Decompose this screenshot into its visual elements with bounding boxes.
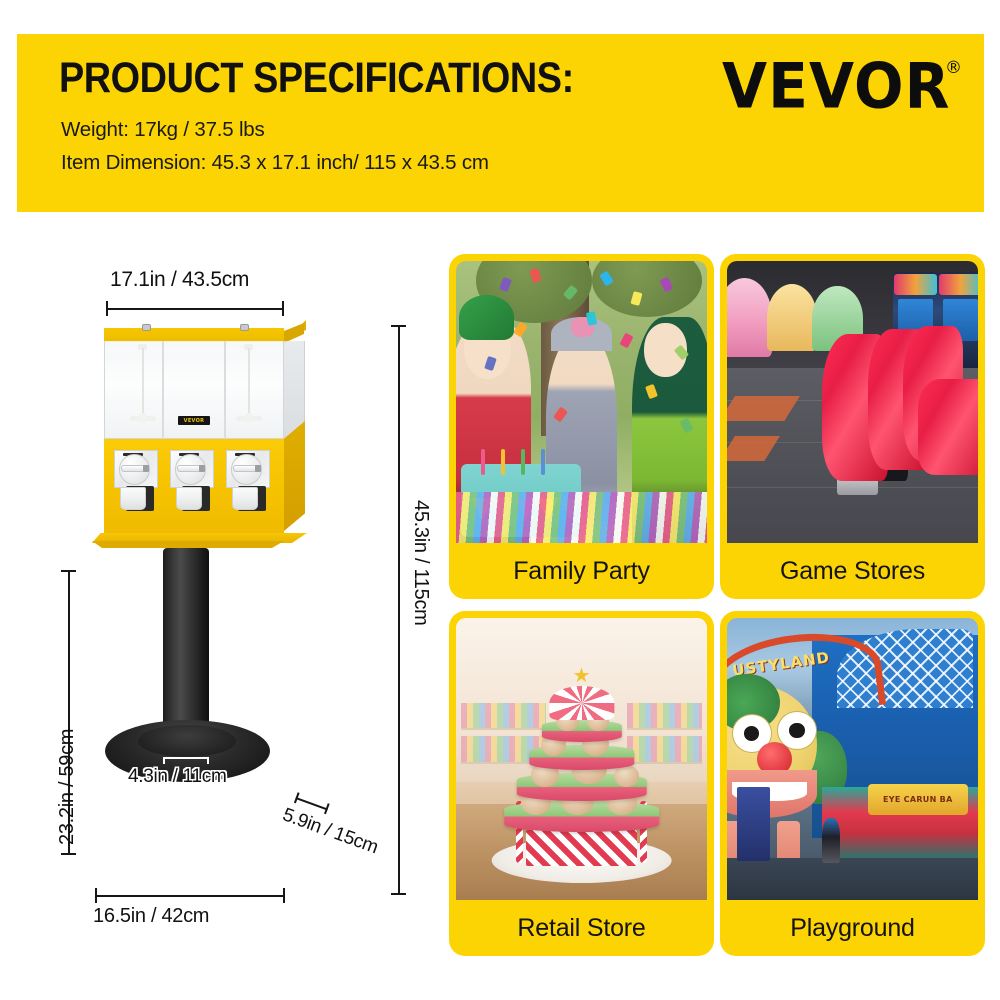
coin-mechanism xyxy=(226,450,270,488)
retail-scene: ★ xyxy=(456,618,707,900)
cabinet-marquee xyxy=(894,274,937,295)
coin-mechanism xyxy=(114,450,158,488)
dispenser-flap xyxy=(120,487,146,510)
use-case-card-playground[interactable]: USTYLAND EYE CARUN BA Playground xyxy=(720,611,985,956)
card-caption-game-stores: Game Stores xyxy=(727,543,978,599)
stand-height-tick-top xyxy=(61,570,76,572)
lid-screw-icon xyxy=(142,324,151,331)
width-tick-right xyxy=(282,301,284,316)
gumball-vending-machine: VEVOR xyxy=(100,320,300,570)
merchandise-shelf xyxy=(627,736,702,763)
internal-rod xyxy=(142,348,144,418)
arcade-scene xyxy=(727,261,978,543)
theme-park-scene: USTYLAND EYE CARUN BA xyxy=(727,618,978,900)
base-diameter-tick-left xyxy=(95,888,97,903)
stand-height-tick-bottom xyxy=(61,853,76,855)
spec-weight: Weight: 17kg / 37.5 lbs xyxy=(61,118,265,142)
machine-lid xyxy=(104,328,284,342)
card-caption-playground: Playground xyxy=(727,900,978,956)
star-topper-icon: ★ xyxy=(573,666,591,686)
total-height-tick-top xyxy=(391,325,406,327)
lid-side xyxy=(284,323,304,343)
globe-divider xyxy=(224,341,226,439)
base-diameter-label: 16.5in / 42cm xyxy=(93,905,209,928)
depth-dimension-label: 5.9in / 15cm xyxy=(279,804,380,859)
nameplate-text: VEVOR xyxy=(184,418,205,424)
merchandise-shelf xyxy=(461,703,546,730)
width-tick-left xyxy=(106,301,108,316)
product-nameplate: VEVOR xyxy=(178,416,210,425)
bottom-tray-edge xyxy=(92,541,292,548)
rod-knob xyxy=(139,413,146,423)
use-case-card-game-stores[interactable]: Game Stores xyxy=(720,254,985,599)
merchandise-shelf xyxy=(627,703,702,730)
base-diameter-line xyxy=(95,895,285,897)
page-title: PRODUCT SPECIFICATIONS: xyxy=(59,54,574,103)
stand-base-inner xyxy=(138,725,236,757)
internal-rod xyxy=(248,348,250,418)
racing-game-seat xyxy=(918,379,978,475)
display-tier xyxy=(541,720,621,743)
kiddie-ride xyxy=(767,284,817,352)
keyhole-icon xyxy=(143,465,149,472)
card-photo-family-party xyxy=(456,261,707,543)
card-caption-retail-store: Retail Store xyxy=(456,900,707,956)
visitor-figure xyxy=(822,818,840,863)
total-height-line xyxy=(398,325,400,895)
use-case-card-retail-store[interactable]: ★ Retail Store xyxy=(449,611,714,956)
product-dimension-diagram: 17.1in / 43.5cm VEVOR xyxy=(0,230,440,970)
use-case-card-grid: Family Party xyxy=(449,254,985,956)
candy-stripe-box xyxy=(526,830,636,867)
stand-pole xyxy=(163,548,209,748)
vevor-logo: VEVOR ® xyxy=(722,56,962,112)
depth-tick-right xyxy=(324,803,330,814)
product-specifications-banner: PRODUCT SPECIFICATIONS: Weight: 17kg / 3… xyxy=(17,34,984,212)
total-height-tick-bottom xyxy=(391,893,406,895)
use-case-card-family-party[interactable]: Family Party xyxy=(449,254,714,599)
confetti-floor xyxy=(456,492,707,543)
dispenser-flap xyxy=(232,487,258,510)
park-ground xyxy=(727,858,978,900)
body-perspective xyxy=(284,421,305,531)
party-scene xyxy=(456,261,707,543)
card-caption-family-party: Family Party xyxy=(456,543,707,599)
cabinet-marquee xyxy=(939,274,978,295)
rod-knob xyxy=(245,413,252,423)
vevor-logo-text: VEVOR xyxy=(722,56,950,119)
info-kiosk xyxy=(737,787,770,860)
width-dimension-label: 17.1in / 43.5cm xyxy=(110,268,249,292)
card-photo-playground: USTYLAND EYE CARUN BA xyxy=(727,618,978,900)
dispenser-flap xyxy=(176,487,202,510)
shop-sign: EYE CARUN BA xyxy=(868,784,968,815)
card-photo-retail-store: ★ xyxy=(456,618,707,900)
kiddie-ride xyxy=(727,278,772,357)
pole-diameter-bracket xyxy=(163,757,209,764)
coin-mechanism xyxy=(170,450,214,488)
carousel-roof xyxy=(549,686,614,720)
lid-screw-icon xyxy=(240,324,249,331)
card-photo-game-stores xyxy=(727,261,978,543)
spec-item-dimension: Item Dimension: 45.3 x 17.1 inch/ 115 x … xyxy=(61,151,489,175)
total-height-label: 45.3in / 115cm xyxy=(409,500,432,626)
globe-divider xyxy=(162,341,164,439)
width-dimension-line xyxy=(106,308,284,310)
stand-height-label: 23.2in / 59cm xyxy=(56,729,79,845)
pole-diameter-label: 4.3in / 11cm xyxy=(128,766,227,788)
keyhole-icon xyxy=(199,465,205,472)
base-diameter-tick-right xyxy=(283,888,285,903)
keyhole-icon xyxy=(255,465,261,472)
